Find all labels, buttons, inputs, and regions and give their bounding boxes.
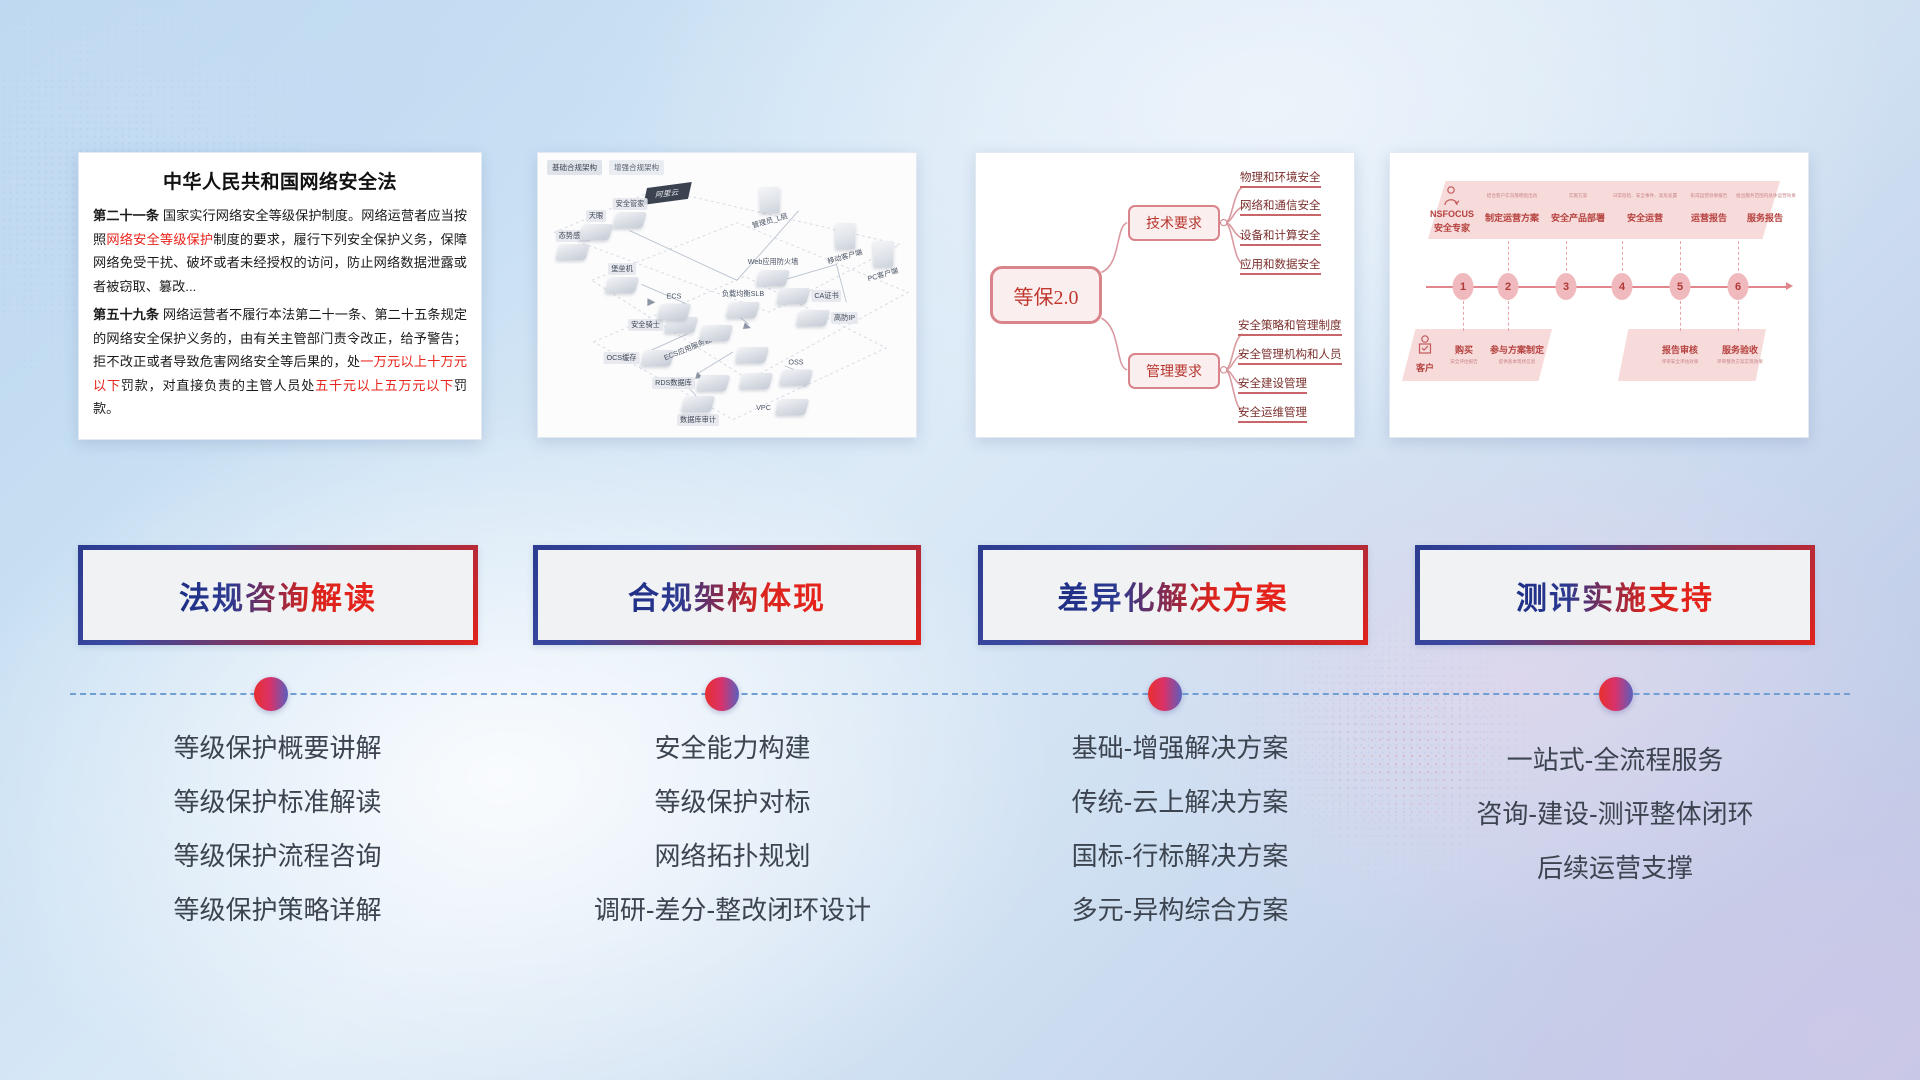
mindmap-leaf-operation[interactable]: 安全运维管理 [1238, 404, 1307, 423]
timeline-step-1[interactable]: 1 [1453, 273, 1474, 300]
bottom-step-2-name: 参与方案制定 [1486, 343, 1548, 356]
timeline-step-4[interactable]: 4 [1612, 273, 1633, 300]
list-item: 国标-行标解决方案 [965, 843, 1395, 869]
timeline-connector [1622, 241, 1623, 271]
title-box-assessment-support[interactable]: 测评实施支持 [1415, 545, 1815, 645]
timeline-connector [1680, 241, 1681, 271]
node-sky-eye-label: 天眼 [586, 210, 606, 222]
timeline-connector [1738, 301, 1739, 331]
vendor-name: NSFOCUS [1428, 209, 1476, 219]
node-vpc[interactable]: VPC [753, 399, 807, 415]
list-item: 等级保护流程咨询 [70, 843, 485, 869]
timeline-connector [1508, 301, 1509, 331]
law-article-21-label: 第二十一条 [93, 208, 159, 223]
mindmap-root-node[interactable]: 等保2.0 [990, 266, 1102, 324]
expert-person-icon [1442, 186, 1460, 206]
law-article-21: 第二十一条 国家实行网络安全等级保护制度。网络运营者应当按照网络安全等级保护制度… [79, 204, 481, 298]
node-chip-icon [776, 288, 811, 304]
node-chip-icon [556, 244, 591, 260]
top-step-3-sub: 日常巡检、安全事件、高危处置 [1608, 193, 1682, 199]
node-chip-icon [699, 325, 734, 341]
timeline-connector [1508, 241, 1509, 271]
node-anti-ddos-ip[interactable]: 高防IP [798, 310, 858, 326]
node-mobile-client[interactable]: 移动客户端 [824, 223, 866, 263]
timeline-connector [1680, 301, 1681, 331]
bottom-step-4-name: 服务验收 [1712, 343, 1768, 356]
node-ocs-cache-label: OCS缓存 [604, 352, 640, 364]
node-security-knight-label: 安全骑士 [628, 319, 663, 331]
timeline-dot-1[interactable] [254, 677, 288, 711]
mindmap-leaf-construction[interactable]: 安全建设管理 [1238, 375, 1307, 394]
node-oss-label: OSS [785, 357, 806, 368]
timeline-dot-4[interactable] [1599, 677, 1633, 711]
node-security-butler-label: 安全管家 [613, 198, 648, 210]
node-slb-label: 负载均衡SLB [719, 288, 767, 300]
architecture-diagram: 基础合规架构 增强合规架构 [538, 153, 916, 437]
title-label-4: 测评实施支持 [1516, 573, 1714, 618]
timeline-step-3[interactable]: 3 [1556, 273, 1577, 300]
list-item: 基础-增强解决方案 [965, 735, 1395, 761]
section-title-row: 法规咨询解读 合规架构体现 差异化解决方案 测评实施支持 [0, 545, 1920, 645]
title-box-compliance-architecture[interactable]: 合规架构体现 [533, 545, 921, 645]
node-box-icon [760, 187, 780, 213]
node-rds-database[interactable]: RDS数据库 [652, 375, 728, 391]
card-cybersecurity-law[interactable]: 中华人民共和国网络安全法 第二十一条 国家实行网络安全等级保护制度。网络运营者应… [78, 152, 482, 440]
node-bastion-host[interactable]: 堡垒机 [607, 263, 637, 293]
node-pc-client[interactable]: PC客户端 [864, 241, 902, 281]
mindmap-branch-technical[interactable]: 技术要求 [1128, 205, 1220, 241]
law-article-21-highlight: 网络安全等级保护 [106, 232, 213, 247]
list-item: 网络拓扑规划 [525, 843, 940, 869]
timeline-top-band [1428, 181, 1780, 239]
top-step-1-sub: 结合客户实况落明后出具 [1478, 193, 1546, 199]
list-item: 等级保护策略详解 [70, 897, 485, 923]
node-oss[interactable]: OSS [781, 357, 811, 386]
mindmap-leaf-application[interactable]: 应用和数据安全 [1240, 256, 1321, 275]
node-bastion-host-label: 堡垒机 [608, 263, 636, 275]
title-label-3: 差异化解决方案 [1058, 573, 1289, 618]
node-chip-icon [696, 375, 731, 391]
card-service-timeline[interactable]: NSFOCUS 安全专家 结合客户实况落明后出具 制定运营方案 实施方案 安全产… [1389, 152, 1809, 438]
list-item: 后续运营支撑 [1400, 855, 1830, 881]
node-ca-certificate-label: CA证书 [811, 290, 841, 302]
timeline-connector [1463, 301, 1464, 331]
law-article-59-text-2: 罚款，对直接负责的主管人员处 [121, 378, 315, 393]
node-ca-certificate[interactable]: CA证书 [778, 288, 841, 304]
node-chip-icon [605, 277, 640, 293]
bottom-step-1-sub: 安全评估报告 [1440, 359, 1488, 365]
detail-list-1: 等级保护概要讲解 等级保护标准解读 等级保护流程咨询 等级保护策略详解 [70, 735, 485, 951]
detail-list-2: 安全能力构建 等级保护对标 网络拓扑规划 调研-差分-整改闭环设计 [525, 735, 940, 951]
illustration-cards-row: 中华人民共和国网络安全法 第二十一条 国家实行网络安全等级保护制度。网络运营者应… [0, 152, 1920, 442]
mindmap-leaf-policy[interactable]: 安全策略和管理制度 [1238, 317, 1342, 336]
node-chip-icon [579, 224, 614, 240]
top-step-4-name: 运营报告 [1678, 211, 1740, 224]
card-compliance-architecture[interactable]: 基础合规架构 增强合规架构 [537, 152, 917, 438]
list-item: 调研-差分-整改闭环设计 [525, 897, 940, 923]
bottom-step-1-name: 购买 [1444, 343, 1484, 356]
node-chip-icon [756, 270, 791, 286]
list-item: 等级保护对标 [525, 789, 940, 815]
mindmap-branch-management[interactable]: 管理要求 [1128, 353, 1220, 389]
law-article-59-highlight-2: 五千元以上五万元以下 [315, 378, 454, 393]
list-item: 一站式-全流程服务 [1400, 747, 1830, 773]
node-server-cluster-3[interactable] [741, 373, 771, 389]
timeline-step-5[interactable]: 5 [1670, 273, 1691, 300]
node-waf[interactable]: Web应用防火墙 [745, 256, 802, 286]
node-chip-icon [613, 212, 648, 228]
node-slb[interactable]: 负载均衡SLB [719, 288, 767, 318]
node-rds-database-label: RDS数据库 [652, 377, 695, 389]
mindmap-leaf-physical[interactable]: 物理和环境安全 [1240, 169, 1321, 188]
node-chip-icon [735, 347, 770, 363]
node-chip-icon [657, 304, 692, 320]
list-item: 安全能力构建 [525, 735, 940, 761]
customer-person-icon [1416, 335, 1434, 359]
node-ecs[interactable]: ECS [659, 291, 689, 320]
node-chip-icon [681, 396, 716, 412]
node-vpc-label: VPC [753, 402, 774, 413]
law-title: 中华人民共和国网络安全法 [79, 167, 481, 194]
mindmap-leaf-org[interactable]: 安全管理机构和人员 [1238, 346, 1342, 365]
mindmap-leaf-network[interactable]: 网络和通信安全 [1240, 197, 1321, 216]
list-item: 等级保护标准解读 [70, 789, 485, 815]
node-security-butler[interactable]: 安全管家 [613, 198, 648, 228]
list-item: 等级保护概要讲解 [70, 735, 485, 761]
top-step-1-name: 制定运营方案 [1478, 211, 1546, 224]
timeline-step-6[interactable]: 6 [1728, 273, 1749, 300]
node-server-cluster-1[interactable] [701, 325, 731, 341]
timeline-dot-2[interactable] [705, 677, 739, 711]
node-sky-eye[interactable]: 天眼 [581, 210, 611, 240]
node-chip-icon [726, 302, 761, 318]
node-db-audit[interactable]: 数据库审计 [677, 396, 719, 426]
mindmap-leaf-device[interactable]: 设备和计算安全 [1240, 227, 1321, 246]
top-step-3-name: 安全运营 [1612, 211, 1678, 224]
mindmap: 等保2.0 技术要求 管理要求 物理和环境安全 网络和通信安全 设备和计算安全 … [976, 153, 1354, 437]
title-label-2: 合规架构体现 [628, 573, 826, 618]
list-item: 咨询-建设-测评整体闭环 [1400, 801, 1830, 827]
timeline-dashed-line [70, 693, 1850, 695]
bottom-step-3-name: 报告审核 [1652, 343, 1708, 356]
node-chip-icon [775, 399, 810, 415]
timeline-arrow-icon [1786, 282, 1793, 290]
list-item: 传统-云上解决方案 [965, 789, 1395, 815]
node-chip-icon [739, 373, 774, 389]
top-step-5-name: 服务报告 [1734, 211, 1796, 224]
node-box-icon [835, 223, 855, 249]
node-admin[interactable]: 管理员_L层 [749, 187, 792, 227]
node-ecs-app-server[interactable]: ECS应用服务器 [660, 343, 717, 355]
law-article-59: 第五十九条 网络运营者不履行本法第二十一条、第二十五条规定的网络安全保护义务的，… [79, 303, 481, 421]
bottom-step-3-sub: 评审安全评估效果 [1648, 359, 1712, 365]
timeline-dot-3[interactable] [1148, 677, 1182, 711]
top-step-5-sub: 给出服务范围内总体运营效果 [1728, 193, 1804, 199]
node-waf-label: Web应用防火墙 [745, 256, 802, 268]
title-label-1: 法规咨询解读 [179, 573, 377, 618]
law-article-59-label: 第五十九条 [93, 307, 159, 322]
bottom-step-2-sub: 提供基本现状信息 [1486, 359, 1548, 365]
node-chip-icon [796, 310, 831, 326]
top-step-2-name: 安全产品部署 [1544, 211, 1612, 224]
node-server-cluster-2[interactable] [737, 347, 767, 363]
vendor-role: 安全专家 [1428, 221, 1476, 234]
timeline-connector [1566, 241, 1567, 271]
bottom-step-4-sub: 评审整改方案实现效果 [1706, 359, 1774, 365]
timeline-step-2[interactable]: 2 [1498, 273, 1519, 300]
service-timeline: NSFOCUS 安全专家 结合客户实况落明后出具 制定运营方案 实施方案 安全产… [1390, 153, 1808, 437]
top-step-2-sub: 实施方案 [1548, 193, 1608, 199]
node-ecs-label: ECS [664, 291, 685, 302]
customer-label: 客户 [1412, 361, 1438, 374]
detail-list-3: 基础-增强解决方案 传统-云上解决方案 国标-行标解决方案 多元-异构综合方案 [965, 735, 1395, 951]
process-timeline [0, 663, 1920, 725]
detail-list-4: 一站式-全流程服务 咨询-建设-测评整体闭环 后续运营支撑 [1400, 747, 1830, 909]
title-box-differentiated-solution[interactable]: 差异化解决方案 [978, 545, 1368, 645]
node-chip-icon [779, 370, 814, 386]
node-db-audit-label: 数据库审计 [677, 414, 719, 426]
card-dengbao-mindmap[interactable]: 等保2.0 技术要求 管理要求 物理和环境安全 网络和通信安全 设备和计算安全 … [975, 152, 1355, 438]
title-box-regulation-consulting[interactable]: 法规咨询解读 [78, 545, 478, 645]
node-anti-ddos-ip-label: 高防IP [831, 312, 858, 324]
list-item: 多元-异构综合方案 [965, 897, 1395, 923]
node-box-icon [873, 241, 893, 267]
timeline-connector [1738, 241, 1739, 271]
